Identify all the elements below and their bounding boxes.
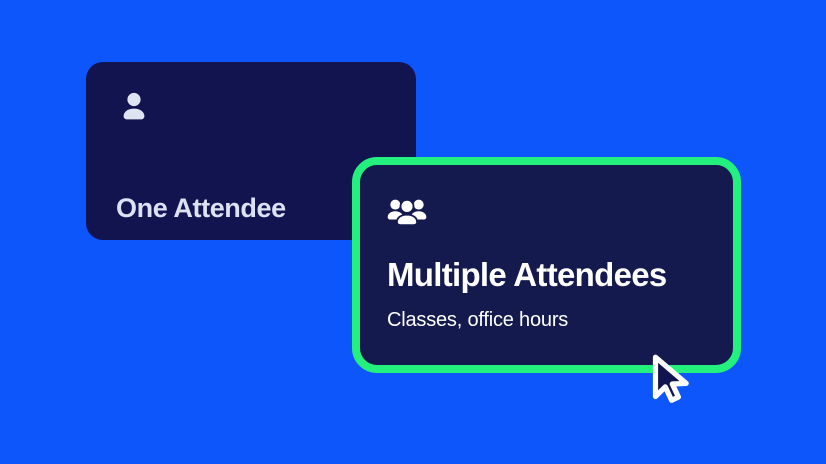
attendee-option-multiple-attendees[interactable]: Multiple Attendees Classes, office hours bbox=[352, 157, 741, 373]
attendee-option-title: Multiple Attendees bbox=[387, 258, 667, 291]
group-people-icon bbox=[387, 195, 427, 235]
single-person-icon bbox=[116, 90, 152, 126]
attendee-option-subtitle: Classes, office hours bbox=[387, 310, 568, 330]
attendee-option-title: One Attendee bbox=[116, 195, 286, 222]
attendee-type-selector: One Attendee Interviews, 1-1s, check-in … bbox=[0, 0, 826, 464]
